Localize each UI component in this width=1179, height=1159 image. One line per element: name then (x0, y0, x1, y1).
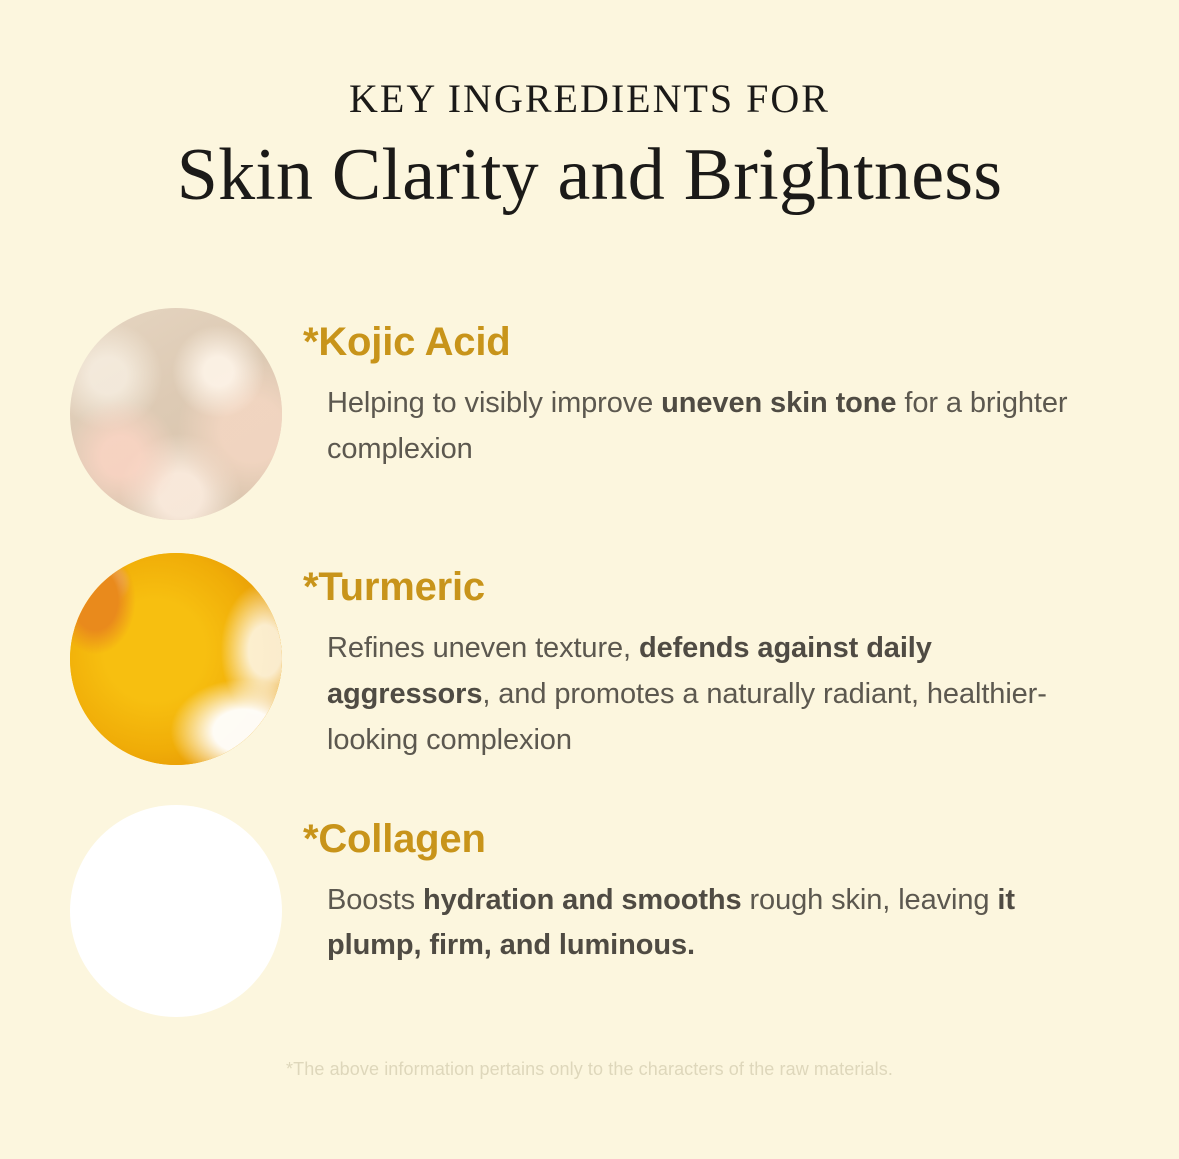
page-title: Skin Clarity and Brightness (0, 134, 1179, 217)
ingredient-name: *Turmeric (303, 567, 1092, 607)
ingredient-name: *Collagen (303, 819, 1092, 859)
ingredient-copy: *Kojic Acid Helping to visibly improve u… (282, 308, 1092, 473)
header: KEY INGREDIENTS FOR Skin Clarity and Bri… (0, 78, 1179, 217)
list-item: *Collagen Boosts hydration and smooths r… (0, 805, 1179, 1020)
eyebrow-title: KEY INGREDIENTS FOR (0, 78, 1179, 120)
kojic-acid-molecule-image (70, 308, 282, 520)
ingredient-copy: *Turmeric Refines uneven texture, defend… (282, 553, 1092, 763)
ingredient-description: Helping to visibly improve uneven skin t… (303, 381, 1092, 473)
footnote-disclaimer: *The above information pertains only to … (0, 1059, 1179, 1080)
ingredient-infographic: KEY INGREDIENTS FOR Skin Clarity and Bri… (0, 0, 1179, 1159)
list-item: *Turmeric Refines uneven texture, defend… (0, 553, 1179, 805)
ingredient-copy: *Collagen Boosts hydration and smooths r… (282, 805, 1092, 968)
collagen-capsules-image (70, 805, 282, 1017)
ingredient-name: *Kojic Acid (303, 322, 1092, 362)
ingredient-list: *Kojic Acid Helping to visibly improve u… (0, 308, 1179, 1020)
ingredient-description: Refines uneven texture, defends against … (303, 626, 1092, 763)
ingredient-description: Boosts hydration and smooths rough skin,… (303, 878, 1092, 968)
turmeric-powder-image (70, 553, 282, 765)
list-item: *Kojic Acid Helping to visibly improve u… (0, 308, 1179, 553)
